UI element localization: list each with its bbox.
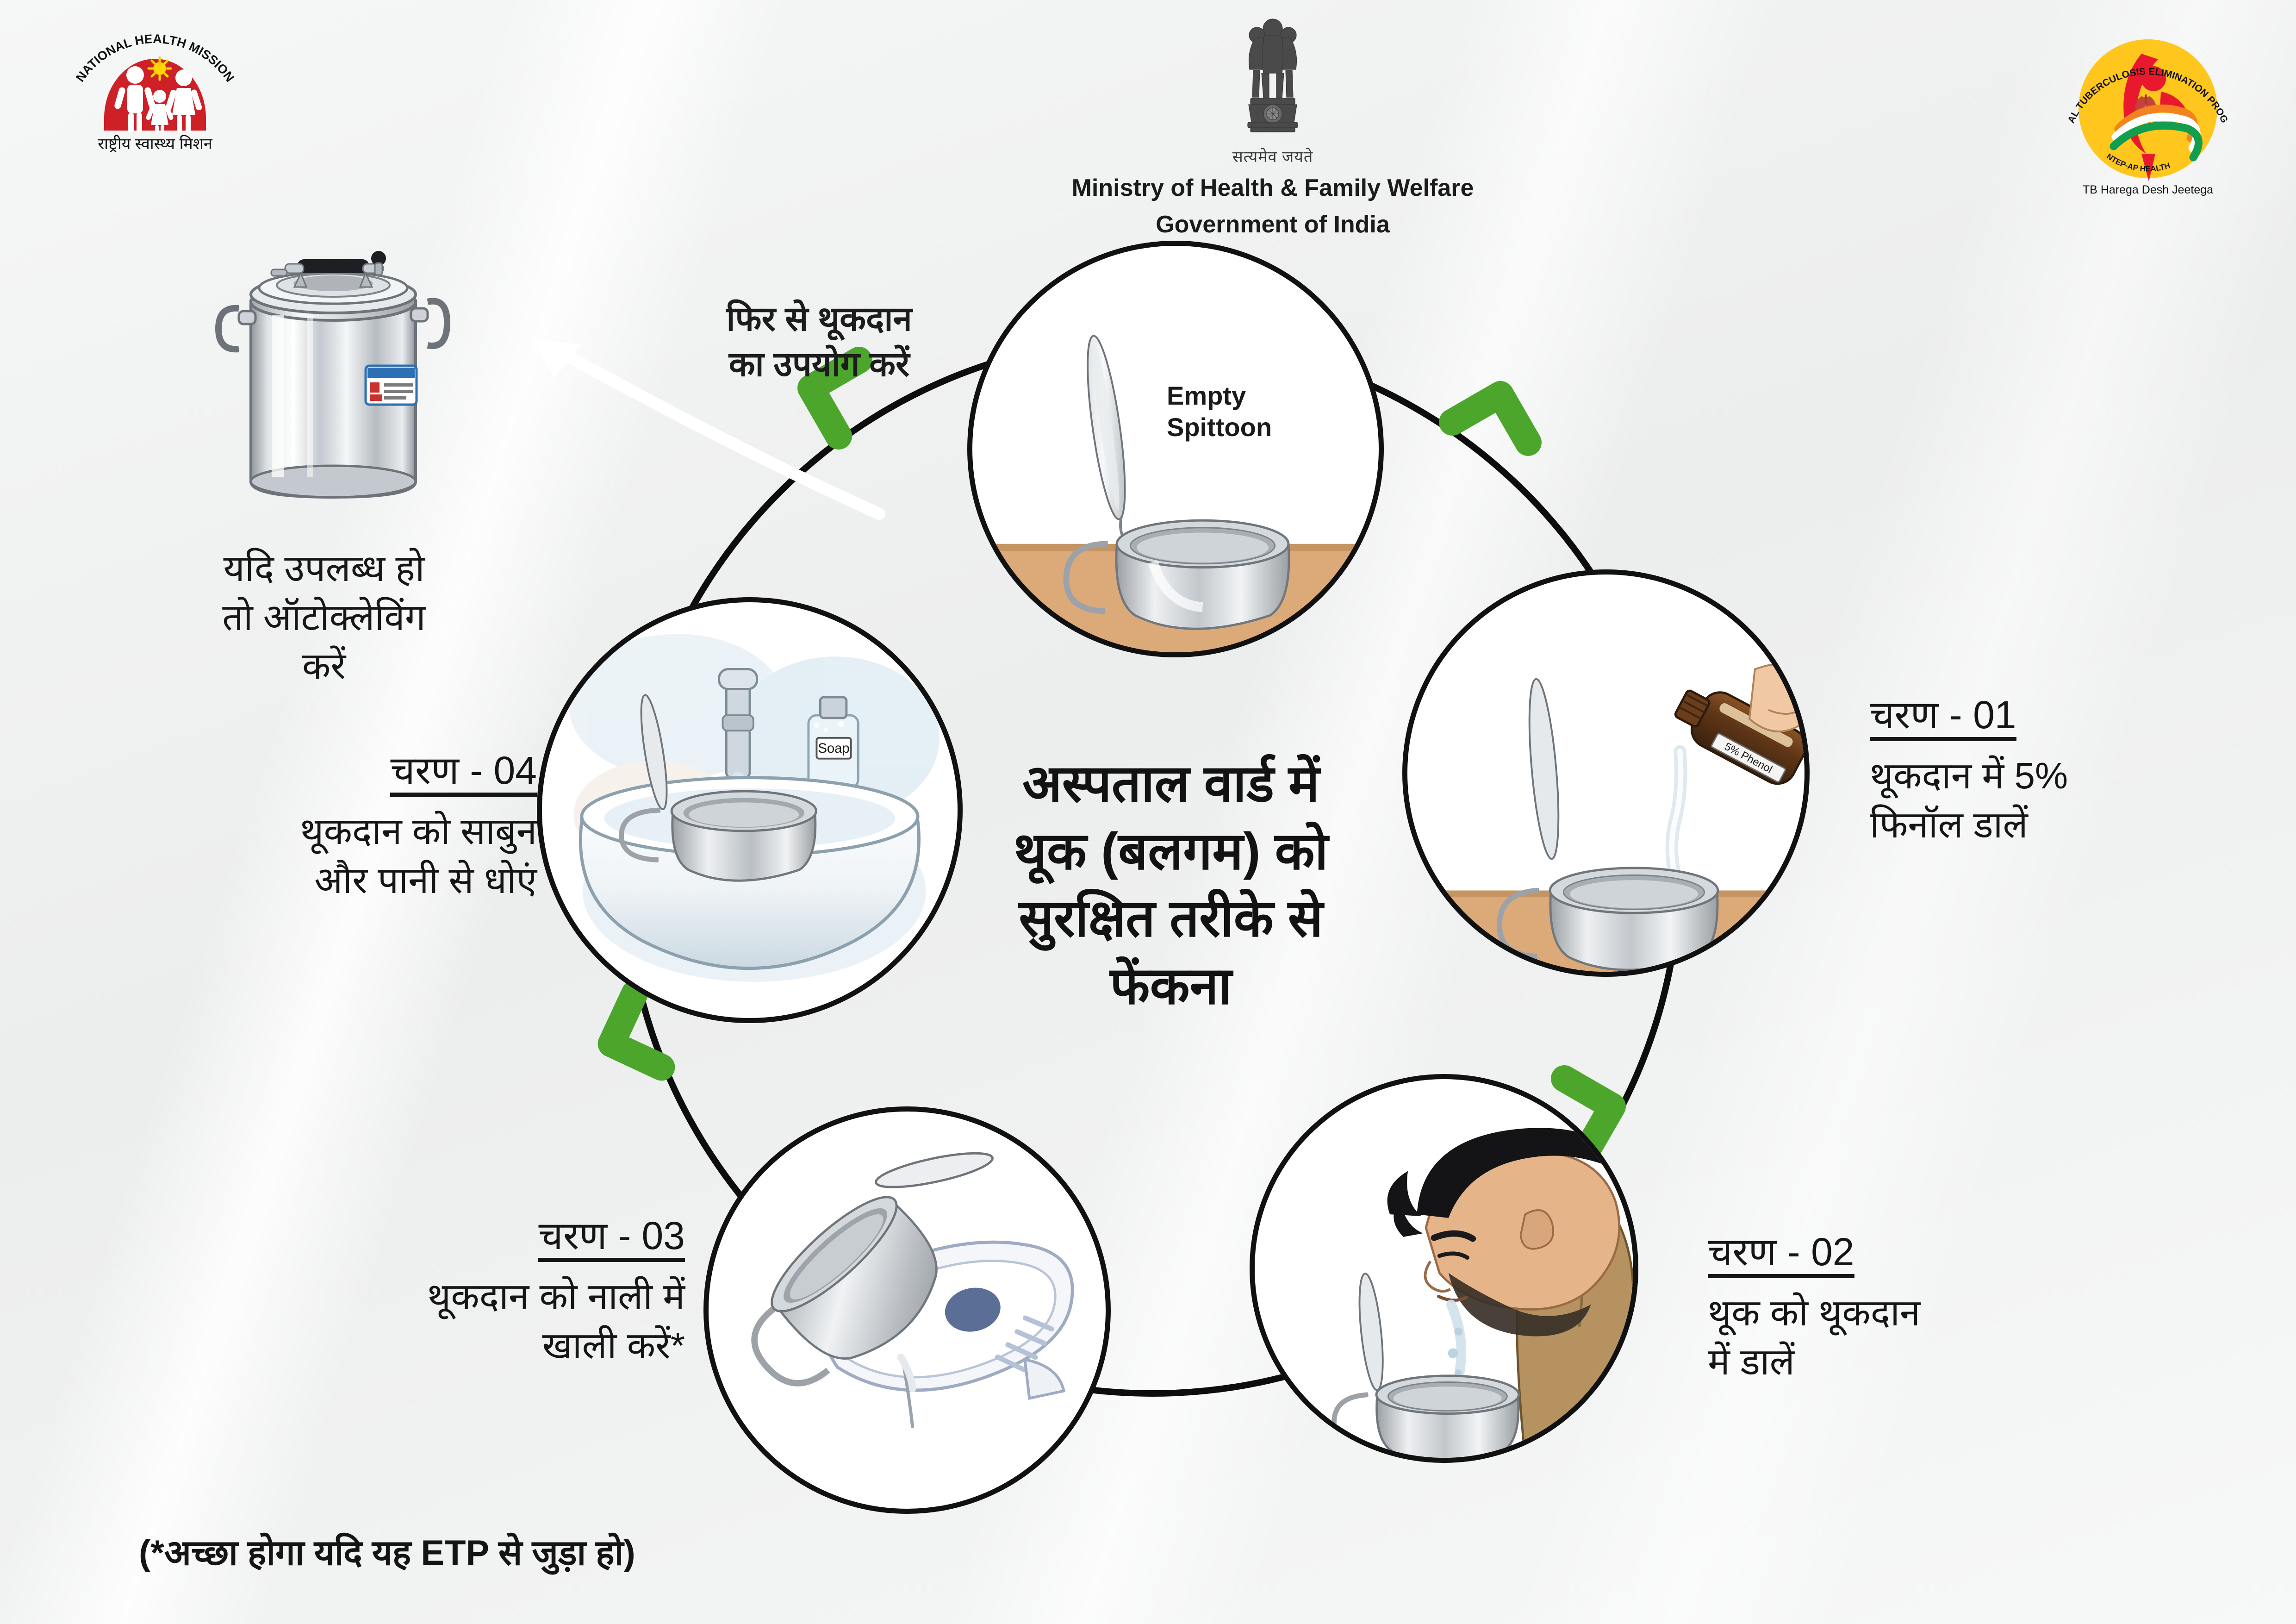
step-04-body-line-1: थूकदान को साबुन	[120, 807, 537, 856]
step-03-heading: चरण - 03	[538, 1215, 685, 1262]
step-02-heading: चरण - 02	[1708, 1231, 1854, 1278]
node-step-01-phenol[interactable]: 5% Phenol	[1402, 569, 1810, 977]
step-03-body-line-2: खाली करें*	[259, 1321, 685, 1370]
empty-into-toilet-illustration	[709, 1112, 1106, 1509]
step-01-body-line-2: फिनॉल डालें	[1870, 800, 2231, 849]
ashoka-emblem-icon	[1226, 9, 1319, 148]
wash-spittoon-illustration: Soap	[542, 602, 958, 1018]
node-step-04-wash[interactable]: Soap	[537, 597, 963, 1023]
ntep-tagline: TB Harega Desh Jeetega	[2083, 183, 2213, 196]
autoclave-illustration	[194, 199, 472, 523]
soap-bottle-label: Soap	[818, 741, 849, 756]
step-01-heading: चरण - 01	[1870, 694, 2016, 741]
step-02-body-line-1: थूक को थूकदान	[1708, 1288, 2060, 1337]
step-04-heading: चरण - 04	[390, 750, 537, 797]
emblem-motto: सत्यमेव जयते	[1000, 145, 1546, 167]
footnote: (*अच्छा होगा यदि यह ETP से जुड़ा हो)	[139, 1528, 635, 1575]
nhm-logo: NATIONAL HEALTH MISSION राष्ट्रीय स्वास्…	[56, 14, 255, 171]
reuse-arrow-label: फिर से थूकदान का उपयोग करें	[657, 296, 981, 387]
ntep-logo: NTEP-AP HEALTH NATIONAL TUBERCULOSIS ELI…	[2051, 9, 2245, 204]
pour-phenol-illustration: 5% Phenol	[1407, 575, 1804, 972]
step-04-body-line-2: और पानी से धोएं	[120, 856, 537, 905]
step-label-01: चरण - 01 थूकदान में 5% फिनॉल डालें	[1870, 694, 2231, 849]
empty-spittoon-illustration	[972, 246, 1379, 652]
page-title: अस्पताल वार्ड में थूक (बलगम) को सुरक्षित…	[935, 750, 1407, 1019]
step-02-body-line-2: में डालें	[1708, 1337, 2060, 1387]
empty-spittoon-caption: Empty Spittoon	[1167, 380, 1343, 443]
autoclave-caption: यदि उपलब्ध हो तो ऑटोक्लेविंग करें	[176, 544, 472, 691]
node-empty-spittoon[interactable]: Empty Spittoon	[967, 241, 1384, 657]
man-spitting-illustration	[1255, 1079, 1633, 1458]
node-step-02-spit[interactable]	[1250, 1074, 1638, 1463]
step-03-body-line-1: थूकदान को नाली में	[259, 1272, 685, 1321]
step-label-03: चरण - 03 थूकदान को नाली में खाली करें*	[259, 1215, 685, 1370]
node-step-03-drain[interactable]	[703, 1106, 1111, 1514]
step-01-body-line-1: थूकदान में 5%	[1870, 751, 2231, 800]
nhm-hindi-text: राष्ट्रीय स्वास्थ्य मिशन	[98, 135, 213, 153]
step-label-02: चरण - 02 थूक को थूकदान में डालें	[1708, 1231, 2060, 1386]
step-label-04: चरण - 04 थूकदान को साबुन और पानी से धोएं	[120, 750, 537, 905]
